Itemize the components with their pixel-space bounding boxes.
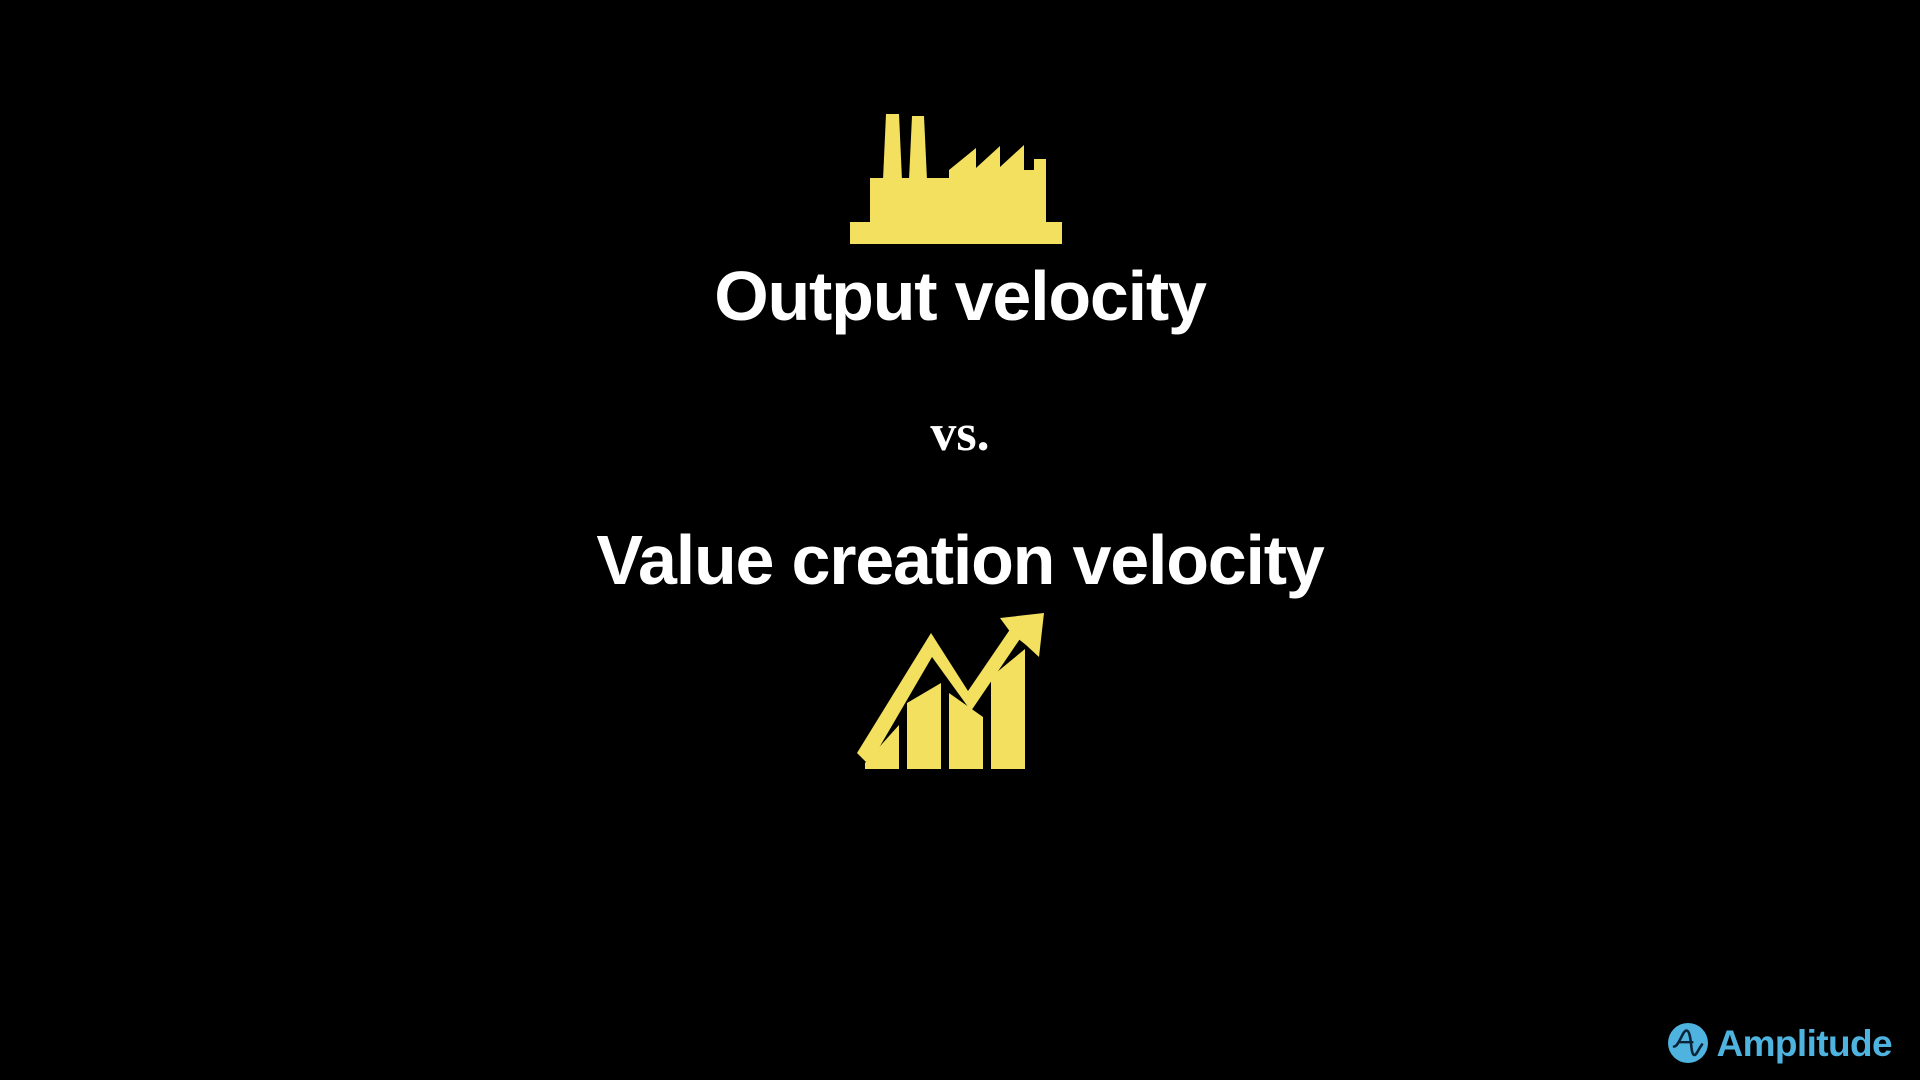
growth-chart-icon	[853, 611, 1067, 771]
page-title-value-creation-velocity: Value creation velocity	[596, 524, 1323, 598]
headline-connector-vs: vs.	[930, 408, 989, 460]
amplitude-wordmark: Amplitude	[1717, 1025, 1892, 1062]
page-title-output-velocity: Output velocity	[714, 260, 1205, 334]
slide-root: Output velocity vs. Value creation veloc…	[0, 0, 1920, 1080]
amplitude-logo: Amplitude	[1667, 1022, 1892, 1064]
amplitude-logo-icon	[1667, 1022, 1709, 1064]
factory-icon	[848, 112, 1072, 246]
